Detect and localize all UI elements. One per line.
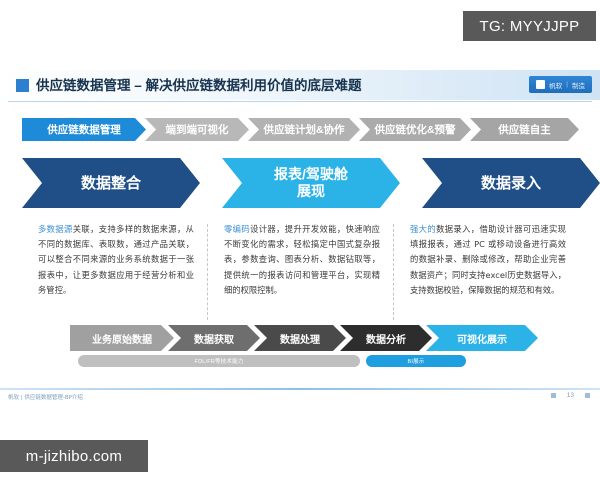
capability-bar-bi: BI展示 bbox=[366, 355, 466, 367]
description-highlight: 强大的 bbox=[410, 224, 436, 234]
nav-item-planning-collaboration[interactable]: 供应链计划&协作 bbox=[248, 118, 360, 141]
description-column-data-entry: 强大的数据录入，借助设计器可迅速实现填报报表，通过 PC 或移动设备进行高效的数… bbox=[394, 222, 580, 314]
pipeline-step-data-processing[interactable]: 数据处理 bbox=[254, 325, 346, 351]
slide-canvas: TG: MYYJJPP m-jizhibo.com 供应链数据管理 – 解决供应… bbox=[0, 0, 600, 480]
capability-bar-technology: FDL/FR等技术能力 bbox=[78, 355, 360, 367]
pillar-data-entry[interactable]: 数据录入 bbox=[422, 158, 600, 208]
brand-logo: 帆软 | 制造 bbox=[529, 76, 592, 93]
page-title: 供应链数据管理 – 解决供应链数据利用价值的底层难题 bbox=[36, 76, 362, 95]
watermark-bottom-badge: m-jizhibo.com bbox=[0, 440, 148, 472]
pillar-label: 数据整合 bbox=[81, 175, 141, 192]
brand-separator: | bbox=[566, 81, 568, 88]
pipeline-step-data-acquisition[interactable]: 数据获取 bbox=[168, 325, 260, 351]
maturity-stage-nav: 供应链数据管理 端到端可视化 供应链计划&协作 供应链优化&预警 供应链自主 bbox=[22, 118, 578, 141]
nav-item-supply-chain-data-management[interactable]: 供应链数据管理 bbox=[22, 118, 146, 141]
pipeline-step-raw-business-data[interactable]: 业务原始数据 bbox=[70, 325, 174, 351]
brand-sub: 制造 bbox=[572, 80, 585, 90]
footer-pagination: 13 bbox=[551, 392, 590, 399]
pillar-report-cockpit[interactable]: 报表/驾驶舱 展现 bbox=[222, 158, 400, 208]
data-pipeline-flow: 业务原始数据 数据获取 数据处理 数据分析 可视化展示 bbox=[70, 325, 540, 351]
nav-item-optimization-alerting[interactable]: 供应链优化&预警 bbox=[359, 118, 471, 141]
description-text: 强大的数据录入，借助设计器可迅速实现填报报表，通过 PC 或移动设备进行高效的数… bbox=[410, 222, 566, 298]
nav-item-autonomous-supply-chain[interactable]: 供应链自主 bbox=[470, 118, 579, 141]
footer-caption: 帆软 | 供应链数据管理-BP介绍 bbox=[8, 393, 83, 401]
description-column-data-integration: 多数据源关联，支持多样的数据来源，从不同的数据库、表取数，通过产品关联，可以整合… bbox=[22, 222, 208, 314]
pipeline-step-data-analysis[interactable]: 数据分析 bbox=[340, 325, 432, 351]
description-text: 多数据源关联，支持多样的数据来源，从不同的数据库、表取数，通过产品关联，可以整合… bbox=[38, 222, 194, 298]
pillar-label: 数据录入 bbox=[481, 175, 541, 192]
pillar-label-line2: 展现 bbox=[274, 183, 348, 200]
description-highlight: 零编码 bbox=[224, 224, 250, 234]
nav-item-end-to-end-visibility[interactable]: 端到端可视化 bbox=[145, 118, 249, 141]
footer-divider bbox=[0, 388, 600, 390]
blue-square-icon bbox=[16, 79, 29, 92]
description-body: 数据录入，借助设计器可迅速实现填报报表，通过 PC 或移动设备进行高效的数据补录… bbox=[410, 224, 566, 295]
capability-bar-label: BI展示 bbox=[408, 357, 425, 365]
pillar-data-integration[interactable]: 数据整合 bbox=[22, 158, 200, 208]
capability-bar-label: FDL/FR等技术能力 bbox=[195, 357, 244, 365]
description-body: 设计器，提升开发效能，快速响应不断变化的需求，轻松搞定中国式复杂报表，参数查询、… bbox=[224, 224, 380, 295]
brand-name: 帆软 bbox=[549, 80, 562, 90]
fanruan-logo-icon bbox=[536, 80, 545, 89]
header-divider bbox=[8, 101, 592, 102]
pillar-label: 报表/驾驶舱 bbox=[274, 166, 348, 183]
prev-slide-icon[interactable] bbox=[551, 393, 556, 398]
watermark-top-badge: TG: MYYJJPP bbox=[463, 11, 596, 41]
description-highlight: 多数据源 bbox=[38, 224, 73, 234]
next-slide-icon[interactable] bbox=[585, 393, 590, 398]
page-number: 13 bbox=[567, 392, 574, 399]
pipeline-step-visualization[interactable]: 可视化展示 bbox=[426, 325, 538, 351]
description-text: 零编码设计器，提升开发效能，快速响应不断变化的需求，轻松搞定中国式复杂报表，参数… bbox=[224, 222, 380, 298]
pillar-description-columns: 多数据源关联，支持多样的数据来源，从不同的数据库、表取数，通过产品关联，可以整合… bbox=[22, 222, 580, 314]
description-column-report-cockpit: 零编码设计器，提升开发效能，快速响应不断变化的需求，轻松搞定中国式复杂报表，参数… bbox=[208, 222, 394, 314]
description-body: 关联，支持多样的数据来源，从不同的数据库、表取数，通过产品关联，可以整合不同来源… bbox=[38, 224, 194, 295]
pillar-chevron-row: 数据整合 报表/驾驶舱 展现 数据录入 bbox=[22, 158, 580, 208]
